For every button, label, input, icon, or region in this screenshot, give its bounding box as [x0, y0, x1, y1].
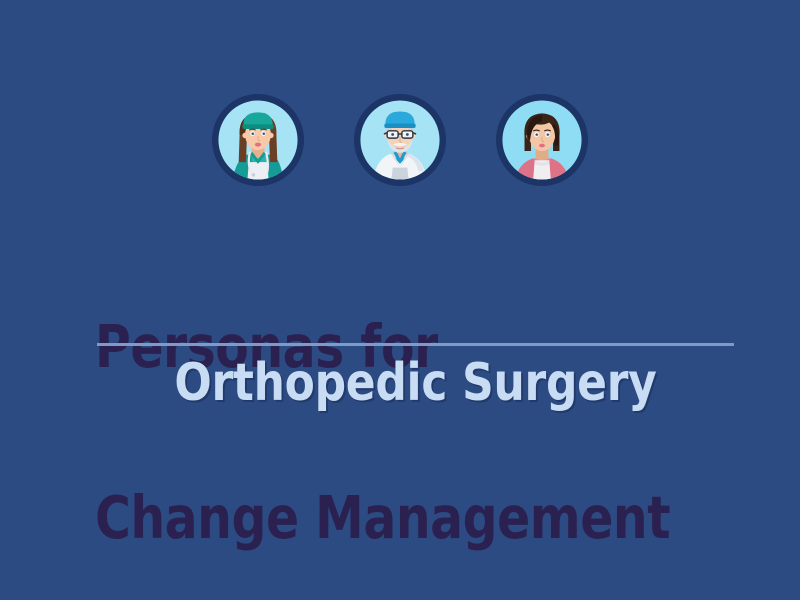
- orthopedic-surgeon-avatar: [354, 94, 446, 186]
- persona-avatar-row: [0, 94, 800, 186]
- page-title-line-2: Change Management: [95, 489, 702, 546]
- page-subtitle: Orthopedic Surgery: [97, 352, 734, 414]
- page-subtitle-text: Orthopedic Surgery: [174, 352, 656, 414]
- surgical-nurse-avatar: [212, 94, 304, 186]
- title-divider: [97, 343, 734, 346]
- patient-avatar: [496, 94, 588, 186]
- title-slide: Personas for Change Management Orthopedi…: [0, 0, 800, 600]
